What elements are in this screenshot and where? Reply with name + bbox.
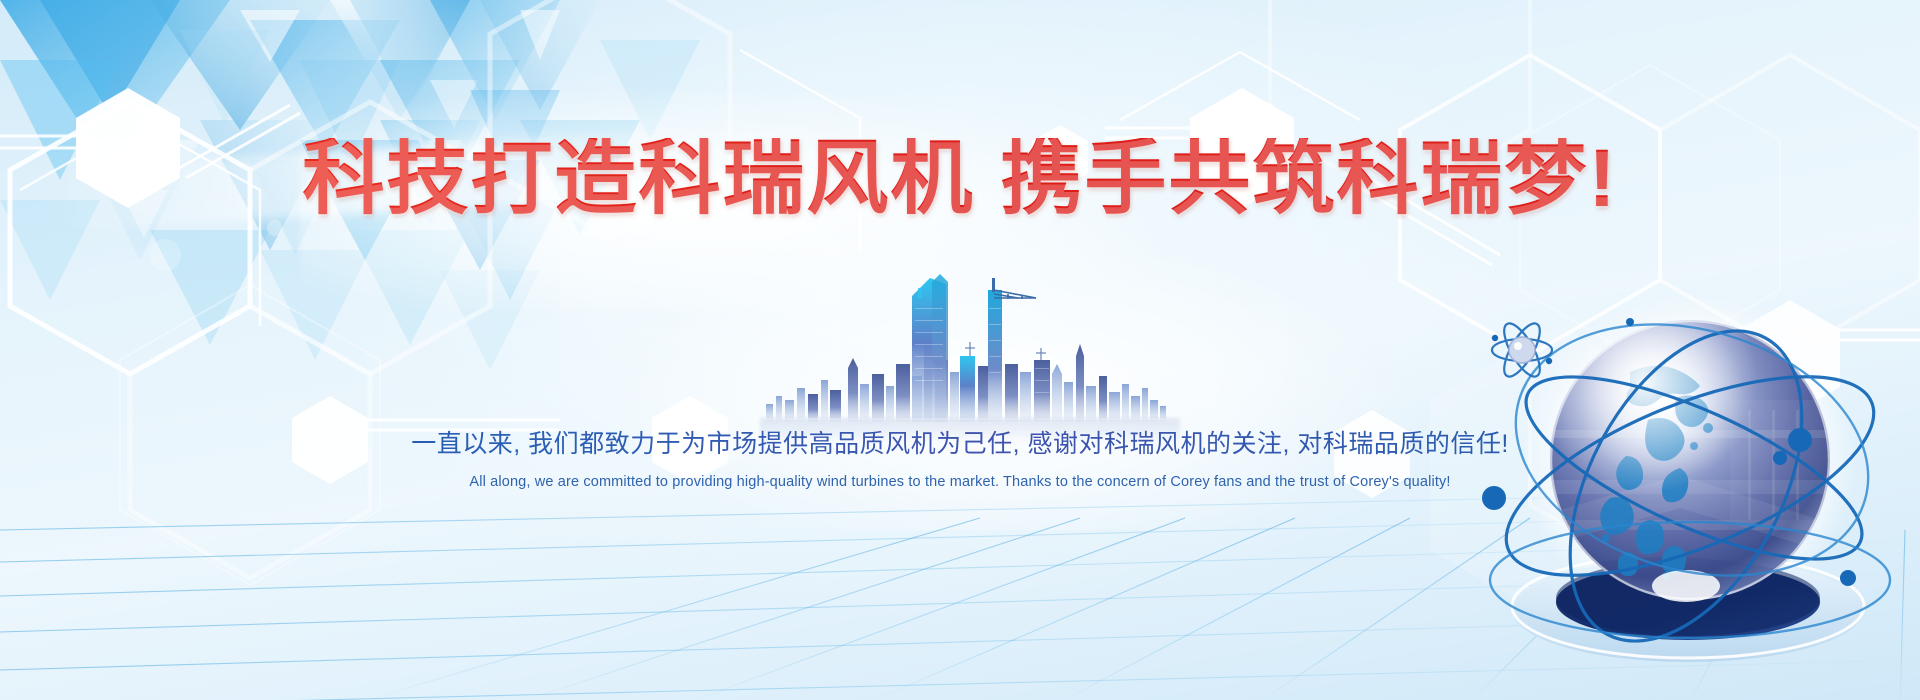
promo-banner: 科技打造科瑞风机携手共筑科瑞梦! <box>0 0 1920 700</box>
headline-segment-2: 携手共筑科瑞梦! <box>1000 133 1617 224</box>
glass-globe-graphic <box>1480 280 1920 700</box>
headline-segment-1: 科技打造科瑞风机 <box>302 133 974 224</box>
banner-headline: 科技打造科瑞风机携手共筑科瑞梦! <box>0 138 1920 220</box>
city-skyline-graphic <box>760 268 1180 423</box>
